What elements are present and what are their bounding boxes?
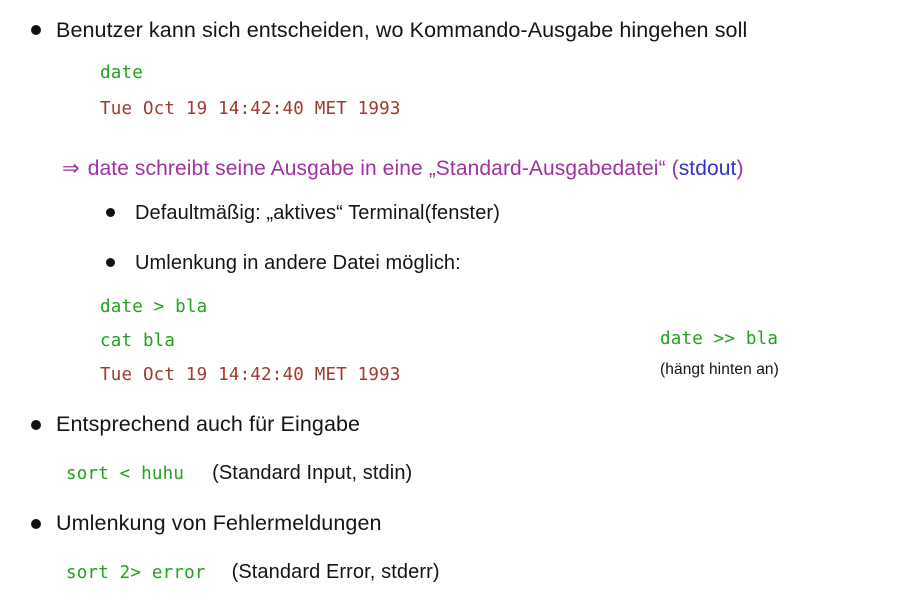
slide-canvas: Benutzer kann sich entscheiden, wo Komma… — [0, 0, 917, 600]
implication-text: date schreibt seine Ausgabe in eine „Sta… — [88, 157, 679, 180]
bullet-item-1: Benutzer kann sich entscheiden, wo Komma… — [56, 20, 747, 42]
bullet-marker-level2-b — [106, 258, 115, 267]
code-command-date: date — [100, 65, 143, 83]
code-command-append: date >> bla — [660, 331, 778, 349]
stderr-label-open: (Standard Error, — [232, 561, 382, 583]
bullet-marker-level2-a — [106, 208, 115, 217]
bullet-item-2: Entsprechend auch für Eingabe — [56, 414, 360, 436]
bullet-item-3: Umlenkung von Fehlermeldungen — [56, 513, 382, 535]
stderr-example-line: sort 2> error(Standard Error, stderr) — [66, 562, 440, 583]
code-output-cat: Tue Oct 19 14:42:40 MET 1993 — [100, 367, 401, 385]
bullet-marker-level1-b — [31, 420, 41, 430]
bullet-marker-level1 — [31, 25, 41, 35]
stderr-label-close: ) — [433, 561, 440, 583]
stdin-label: stdin — [363, 462, 406, 484]
sub-bullet-item-2: Umlenkung in andere Datei möglich: — [135, 253, 461, 273]
stdin-example-line: sort < huhu(Standard Input, stdin) — [66, 463, 412, 484]
implication-statement: ⇒date schreibt seine Ausgabe in eine „St… — [62, 158, 744, 179]
bullet-marker-level1-c — [31, 519, 41, 529]
implies-arrow-icon: ⇒ — [62, 157, 80, 180]
code-command-stderr: sort 2> error — [66, 563, 206, 583]
append-note: (hängt hinten an) — [660, 362, 779, 378]
code-command-cat: cat bla — [100, 333, 175, 351]
stdin-label-close: ) — [406, 462, 413, 484]
stdout-label: stdout — [679, 157, 737, 180]
stdin-label-open: (Standard Input, — [212, 462, 363, 484]
sub-bullet-item-1: Defaultmäßig: „aktives“ Terminal(fenster… — [135, 203, 500, 223]
code-command-stdin: sort < huhu — [66, 464, 184, 484]
code-command-redirect: date > bla — [100, 299, 207, 317]
code-output-date: Tue Oct 19 14:42:40 MET 1993 — [100, 101, 401, 119]
implication-closing: ) — [737, 157, 744, 180]
stderr-label: stderr — [381, 561, 433, 583]
